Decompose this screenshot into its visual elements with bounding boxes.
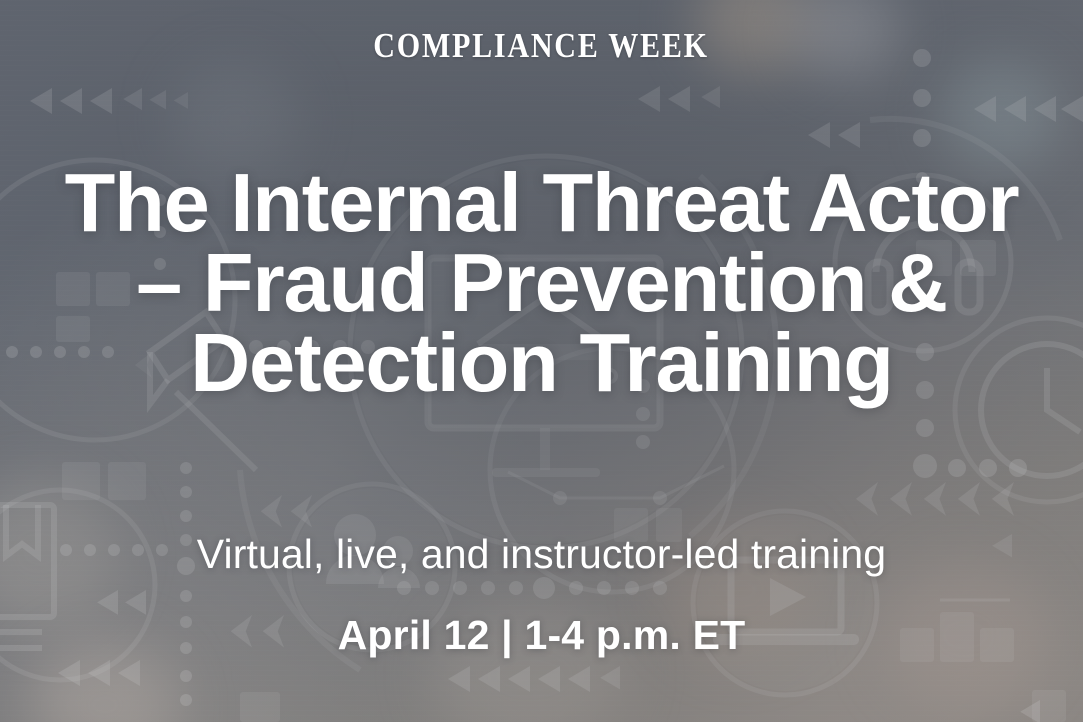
headline-line-2: – Fraud Prevention & xyxy=(12,243,1071,323)
headline-line-3: Detection Training xyxy=(12,323,1071,403)
banner-content: COMPLIANCE WEEK The Internal Threat Acto… xyxy=(0,0,1083,722)
compliance-week-logo: COMPLIANCE WEEK xyxy=(374,28,709,63)
headline-line-1: The Internal Threat Actor xyxy=(12,163,1071,243)
headline-block: The Internal Threat Actor – Fraud Preven… xyxy=(0,163,1083,403)
promo-banner: COMPLIANCE WEEK The Internal Threat Acto… xyxy=(0,0,1083,722)
page-title: The Internal Threat Actor – Fraud Preven… xyxy=(0,163,1083,403)
subtitle: Virtual, live, and instructor-led traini… xyxy=(0,531,1083,578)
event-datetime: April 12 | 1-4 p.m. ET xyxy=(0,612,1083,659)
